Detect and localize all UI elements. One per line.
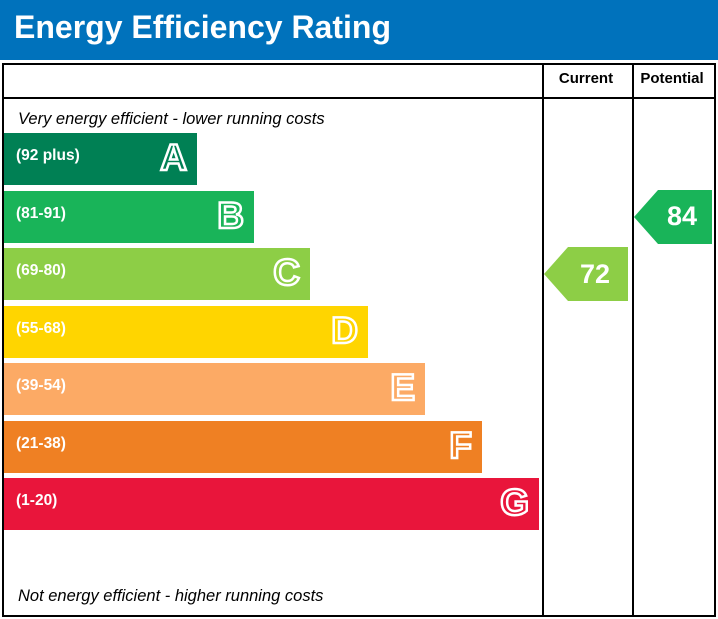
band-range-d: (55-68) bbox=[16, 320, 66, 338]
rating-value-potential: 84 bbox=[658, 190, 712, 244]
band-bar-d: (55-68)D bbox=[4, 306, 368, 358]
band-bar-f: (21-38)F bbox=[4, 421, 482, 473]
band-bar-e: (39-54)E bbox=[4, 363, 425, 415]
band-bar-b: (81-91)B bbox=[4, 191, 254, 243]
band-letter-f: F bbox=[449, 422, 472, 470]
band-letter-a: A bbox=[160, 134, 187, 182]
band-letter-e: E bbox=[390, 364, 415, 412]
band-range-f: (21-38) bbox=[16, 435, 66, 453]
rating-marker-current: 72 bbox=[544, 247, 630, 301]
band-bar-g: (1-20)G bbox=[4, 478, 539, 530]
title-bar: Energy Efficiency Rating bbox=[0, 0, 718, 60]
band-range-e: (39-54) bbox=[16, 377, 66, 395]
band-range-a: (92 plus) bbox=[16, 147, 80, 165]
band-letter-c: C bbox=[273, 249, 300, 297]
chart-frame: Current Potential Very energy efficient … bbox=[2, 63, 716, 617]
band-range-c: (69-80) bbox=[16, 262, 66, 280]
page-title: Energy Efficiency Rating bbox=[14, 9, 391, 46]
band-letter-b: B bbox=[217, 192, 244, 240]
column-header-current: Current bbox=[540, 70, 632, 87]
band-bar-a: (92 plus)A bbox=[4, 133, 197, 185]
band-letter-d: D bbox=[331, 307, 358, 355]
column-divider-potential bbox=[632, 65, 634, 615]
band-letter-g: G bbox=[500, 479, 529, 527]
band-bar-c: (69-80)C bbox=[4, 248, 310, 300]
column-header-potential: Potential bbox=[630, 70, 714, 87]
band-range-g: (1-20) bbox=[16, 492, 57, 510]
rating-value-current: 72 bbox=[568, 247, 628, 301]
column-divider-current bbox=[542, 65, 544, 615]
band-range-b: (81-91) bbox=[16, 205, 66, 223]
marker-arrow-icon bbox=[634, 190, 658, 244]
rating-marker-potential: 84 bbox=[634, 190, 714, 244]
band-bars: (92 plus)A(81-91)B(69-80)C(55-68)D(39-54… bbox=[4, 65, 542, 615]
marker-arrow-icon bbox=[544, 247, 568, 301]
epc-chart: Energy Efficiency Rating Current Potenti… bbox=[0, 0, 718, 619]
